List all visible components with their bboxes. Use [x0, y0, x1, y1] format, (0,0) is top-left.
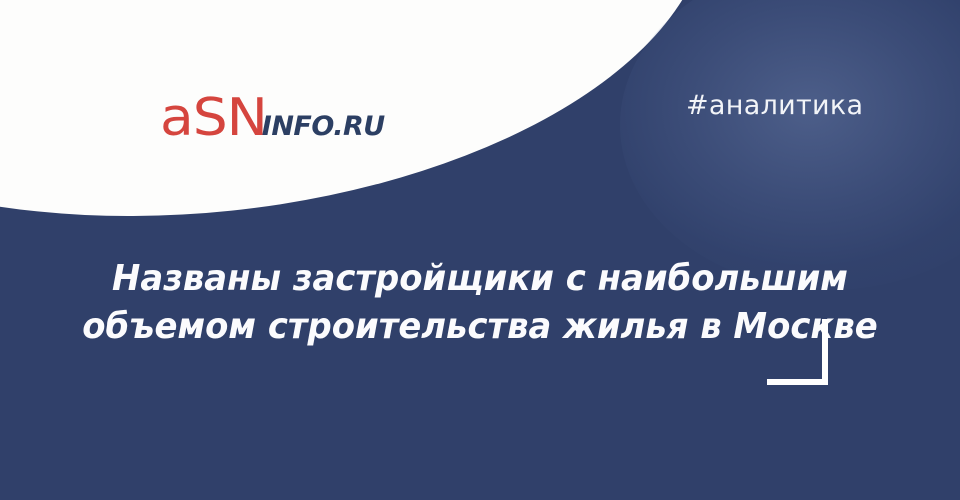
social-card: aSN INFO.RU #аналитика Названы застройщи… — [0, 0, 960, 500]
headline-line-1: Названы застройщики с наибольшим — [29, 255, 931, 303]
asninfo-logo[interactable]: aSN INFO.RU — [160, 92, 385, 150]
corner-bracket-horizontal — [767, 379, 828, 385]
logo-info-ru-text: INFO.RU — [262, 113, 385, 140]
logo-asn-text: aSN — [160, 92, 267, 144]
page-title: Названы застройщики с наибольшим объемом… — [0, 255, 960, 351]
radial-glow — [620, 0, 960, 290]
hashtag-analitika[interactable]: #аналитика — [686, 90, 863, 121]
headline-line-2: объемом строительства жилья в Москве — [29, 303, 931, 351]
